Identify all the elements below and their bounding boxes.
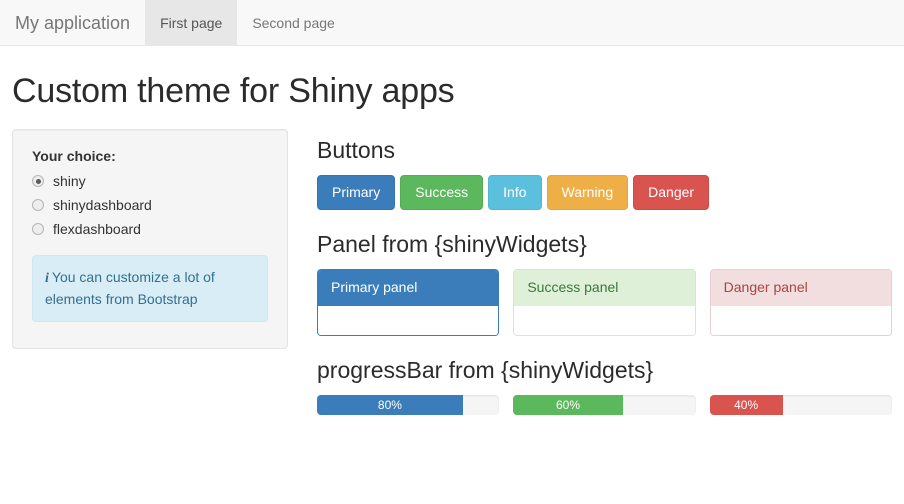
progress-track-danger: 40% bbox=[710, 395, 892, 415]
info-alert: iYou can customize a lot of elements fro… bbox=[32, 255, 268, 322]
success-panel-heading: Success panel bbox=[514, 270, 694, 306]
navbar-brand[interactable]: My application bbox=[0, 0, 145, 45]
navbar: My application First page Second page bbox=[0, 0, 904, 46]
radio-label: shiny bbox=[53, 173, 86, 189]
radio-option-shinydashboard[interactable]: shinydashboard bbox=[32, 197, 268, 213]
nav-tabs: First page Second page bbox=[145, 0, 350, 45]
panels-section-title: Panel from {shinyWidgets} bbox=[317, 210, 892, 269]
radio-label: flexdashboard bbox=[53, 221, 141, 237]
radio-group-label: Your choice: bbox=[32, 148, 268, 164]
radio-option-shiny[interactable]: shiny bbox=[32, 173, 268, 189]
success-panel-body bbox=[514, 306, 694, 335]
page-container: Custom theme for Shiny apps Your choice:… bbox=[0, 46, 904, 415]
buttons-section-title: Buttons bbox=[317, 129, 892, 175]
progress-section-title: progressBar from {shinyWidgets} bbox=[317, 336, 892, 395]
radio-option-flexdashboard[interactable]: flexdashboard bbox=[32, 221, 268, 237]
info-icon: i bbox=[45, 271, 49, 286]
page-title: Custom theme for Shiny apps bbox=[12, 46, 892, 129]
radio-mark-icon bbox=[32, 175, 44, 187]
progress-row: 80% 60% 40% bbox=[317, 395, 892, 415]
panels-row: Primary panel Success panel Danger panel bbox=[317, 269, 892, 336]
sidebar-panel: Your choice: shiny shinydashboard flexda… bbox=[12, 129, 288, 349]
tab-first-page[interactable]: First page bbox=[145, 0, 237, 45]
buttons-row: Primary Success Info Warning Danger bbox=[317, 175, 892, 210]
main-panel: Buttons Primary Success Info Warning Dan… bbox=[288, 129, 892, 415]
danger-button[interactable]: Danger bbox=[633, 175, 709, 210]
progress-track-primary: 80% bbox=[317, 395, 499, 415]
radio-mark-icon bbox=[32, 223, 44, 235]
primary-panel-heading: Primary panel bbox=[318, 270, 498, 306]
danger-panel: Danger panel bbox=[710, 269, 892, 336]
progress-bar-success: 60% bbox=[513, 395, 622, 415]
success-button[interactable]: Success bbox=[400, 175, 483, 210]
progress-track-success: 60% bbox=[513, 395, 695, 415]
progress-bar-primary: 80% bbox=[317, 395, 463, 415]
info-button[interactable]: Info bbox=[488, 175, 541, 210]
primary-button[interactable]: Primary bbox=[317, 175, 395, 210]
progress-bar-danger: 40% bbox=[710, 395, 783, 415]
info-alert-text: You can customize a lot of elements from… bbox=[45, 269, 215, 307]
radio-mark-icon bbox=[32, 199, 44, 211]
danger-panel-body bbox=[711, 306, 891, 335]
danger-panel-heading: Danger panel bbox=[711, 270, 891, 306]
content-row: Your choice: shiny shinydashboard flexda… bbox=[12, 129, 892, 415]
radio-label: shinydashboard bbox=[53, 197, 152, 213]
tab-second-page[interactable]: Second page bbox=[237, 0, 350, 45]
success-panel: Success panel bbox=[513, 269, 695, 336]
primary-panel-body bbox=[318, 306, 498, 335]
warning-button[interactable]: Warning bbox=[547, 175, 629, 210]
sidebar-well: Your choice: shiny shinydashboard flexda… bbox=[12, 129, 288, 349]
radio-group-choice: shiny shinydashboard flexdashboard bbox=[32, 173, 268, 237]
primary-panel: Primary panel bbox=[317, 269, 499, 336]
